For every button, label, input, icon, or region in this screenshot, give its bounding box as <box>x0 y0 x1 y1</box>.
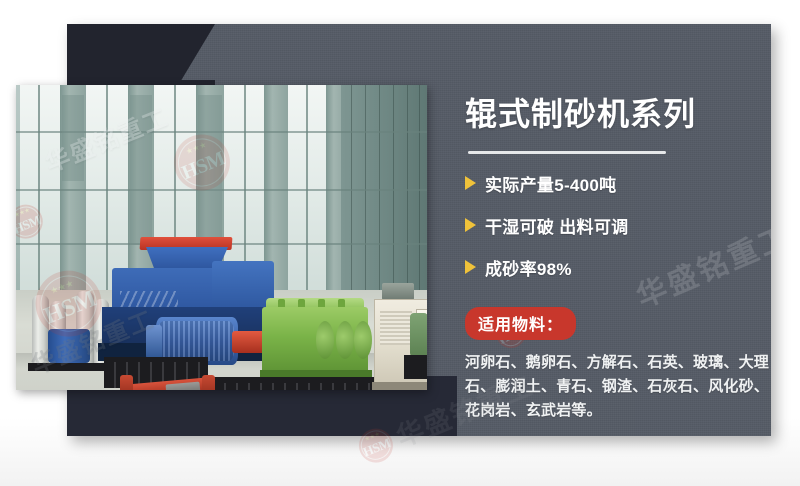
arrow-right-icon <box>465 218 476 232</box>
product-photo: 华盛铭重工 ★★★ HSM ★★★ HSM ★★★ HSM 华盛铭重工 <box>16 85 427 390</box>
arrow-right-icon <box>465 176 476 190</box>
materials-badge: 适用物料： <box>465 307 576 340</box>
shaft-coupling <box>232 331 266 353</box>
title-underline <box>468 151 666 154</box>
window-mullion <box>106 85 108 300</box>
card-content: 辊式制砂机系列 实际产量5-400吨 干湿可破 出料可调 成砂率98% 适用物料… <box>465 96 771 424</box>
motor-end-cap <box>146 325 162 359</box>
gas-cylinder <box>32 295 49 365</box>
feature-label: 干湿可破 出料可调 <box>485 213 628 238</box>
cabinet-roof-unit <box>382 283 414 300</box>
gearbox-flange <box>336 321 354 359</box>
window-mullion <box>38 85 40 300</box>
page-title: 辊式制砂机系列 <box>465 96 771 133</box>
feature-item: 实际产量5-400吨 <box>465 171 771 196</box>
gearbox-flange <box>316 321 334 359</box>
tank-base <box>404 355 427 379</box>
cylinder-base <box>28 363 114 371</box>
window-mullion <box>306 85 308 300</box>
materials-text: 河卵石、鹅卵石、方解石、石英、玻璃、大理石、膨润土、青石、钢渣、石灰石、风化砂、… <box>465 351 771 424</box>
far-wall-panels <box>341 85 427 300</box>
hsm-letters: HSM <box>361 436 392 459</box>
cabinet-vent-louvers <box>380 311 412 345</box>
cabinet-base <box>372 382 427 390</box>
feature-label: 成砂率98% <box>485 255 572 280</box>
feature-item: 成砂率98% <box>465 255 771 280</box>
pipe-flange <box>202 375 215 390</box>
storage-tank <box>410 313 427 357</box>
wall-brace <box>198 95 222 245</box>
blue-equipment-box <box>48 329 90 363</box>
feature-item: 干湿可破 出料可调 <box>465 213 771 238</box>
feature-list: 实际产量5-400吨 干湿可破 出料可调 成砂率98% <box>465 171 771 280</box>
base-frame-legs <box>202 383 378 390</box>
pipe-flange <box>120 375 133 390</box>
poster-canvas: 华盛铭重工 ★★★ HSM 辊式制砂机系列 实际产量5-400吨 干湿可破 出料… <box>0 0 800 486</box>
wall-brace <box>62 95 84 181</box>
motor-cooling-fins <box>158 321 234 361</box>
gearbox-flange <box>354 321 372 359</box>
feature-label: 实际产量5-400吨 <box>485 171 616 196</box>
window-bay <box>20 85 60 300</box>
arrow-right-icon <box>465 260 476 274</box>
wall-brace <box>130 95 152 245</box>
